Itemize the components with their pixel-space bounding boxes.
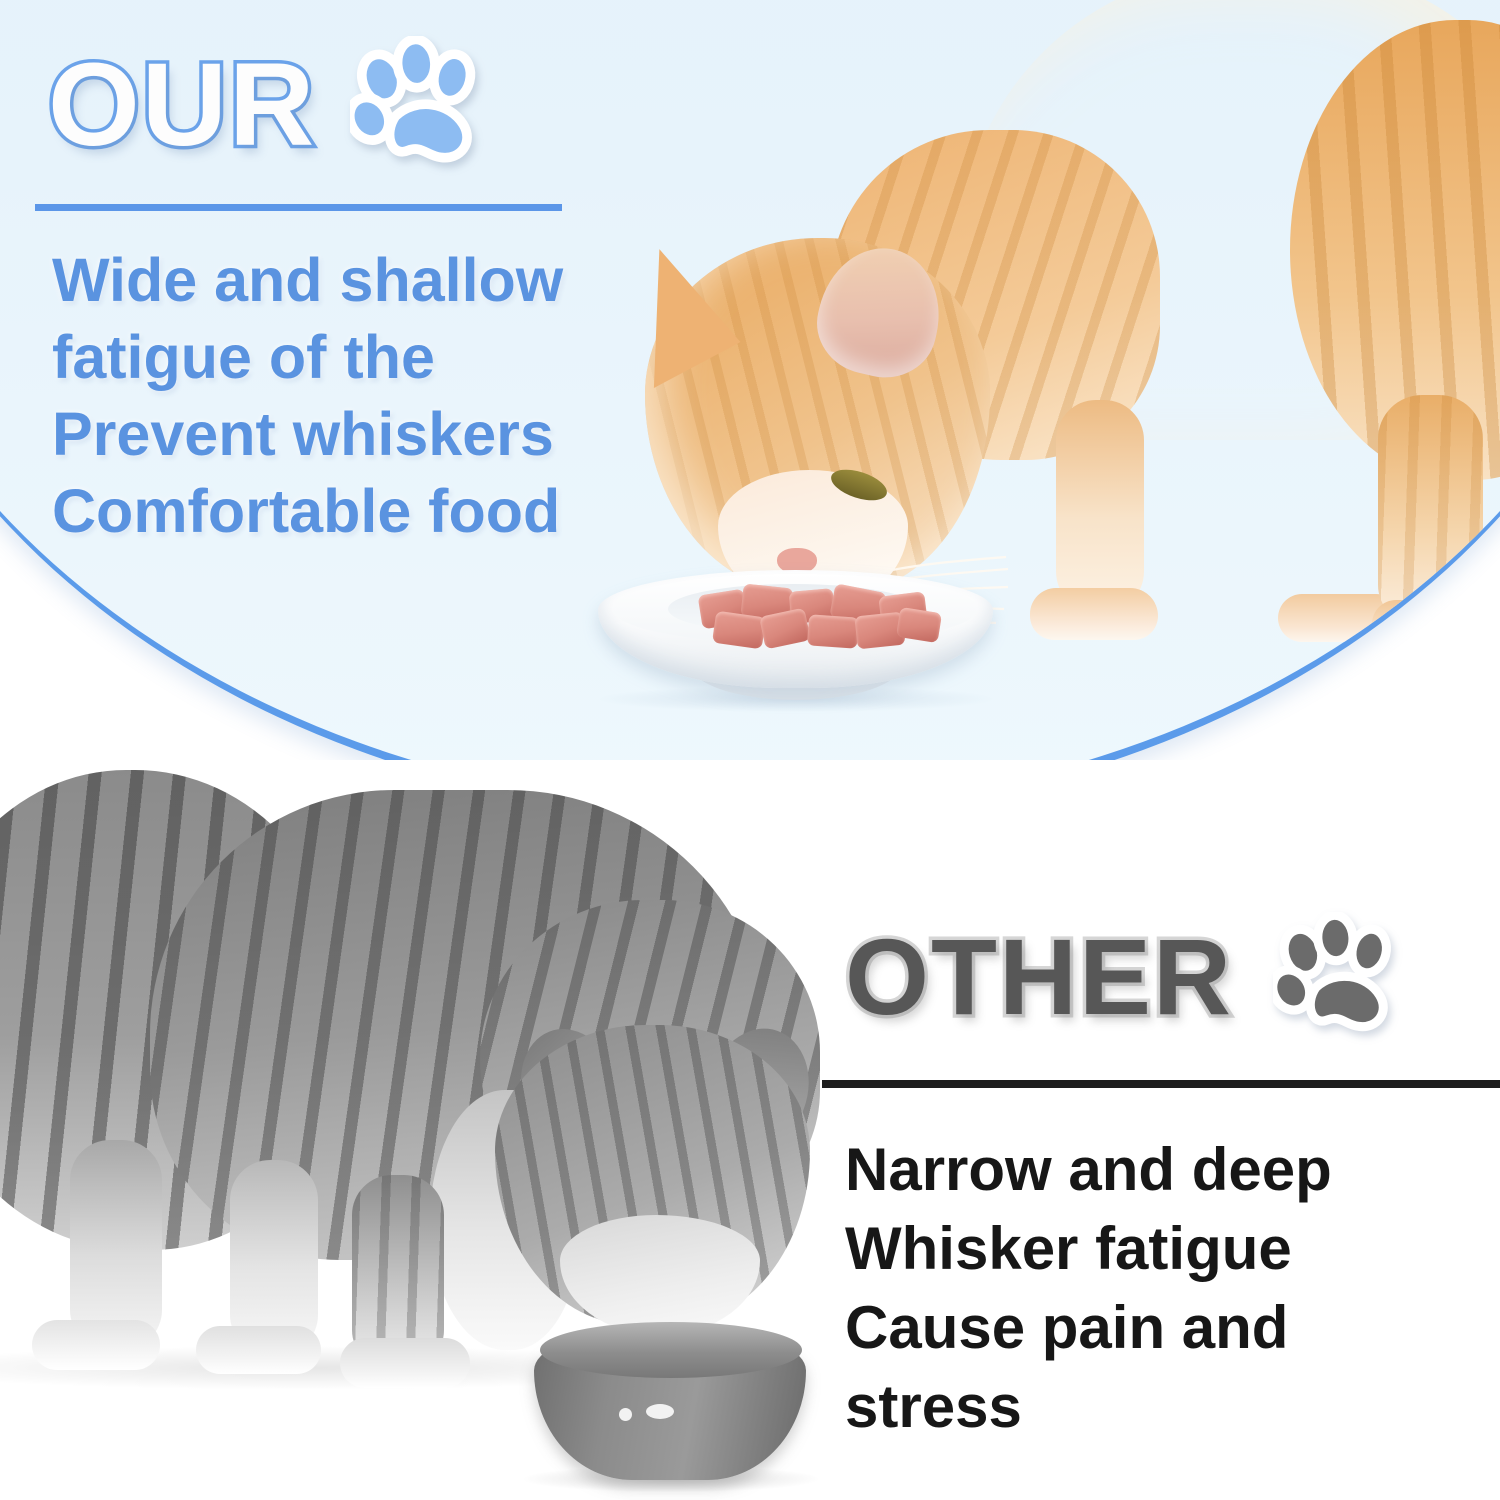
orange-cat-front-leg [1056, 400, 1144, 615]
gray-cat-mid-paw [196, 1326, 321, 1374]
our-divider-rule [35, 204, 562, 211]
product-comparison-infographic: OUR Wide and shallow fatigue of the Prev… [0, 0, 1500, 1500]
our-heading-row: OUR [48, 36, 488, 174]
orange-cat-hind-paw [1372, 600, 1497, 648]
orange-cat-hind-leg [1378, 395, 1483, 625]
paw-print-icon [1273, 912, 1403, 1042]
other-divider-rule [822, 1080, 1500, 1088]
our-heading-text: OUR [48, 46, 316, 164]
gray-bowl-highlight-small [619, 1408, 632, 1421]
paw-print-icon [350, 36, 488, 174]
gray-cat-front-paw [340, 1338, 470, 1388]
other-heading-text: OTHER [845, 923, 1233, 1031]
gray-cat-hind-paw [32, 1320, 160, 1370]
our-body-text: Wide and shallow fatigue of the Prevent … [52, 242, 563, 550]
gray-cat-muzzle [560, 1215, 760, 1335]
gray-cat-hind-leg [70, 1140, 162, 1350]
other-body-text: Narrow and deep Whisker fatigue Cause pa… [845, 1130, 1332, 1446]
gray-bowl-rim [540, 1322, 802, 1378]
other-heading-row: OTHER [845, 912, 1403, 1042]
orange-cat-front-paw [1030, 588, 1158, 640]
gray-bowl-highlight-large [646, 1404, 674, 1419]
